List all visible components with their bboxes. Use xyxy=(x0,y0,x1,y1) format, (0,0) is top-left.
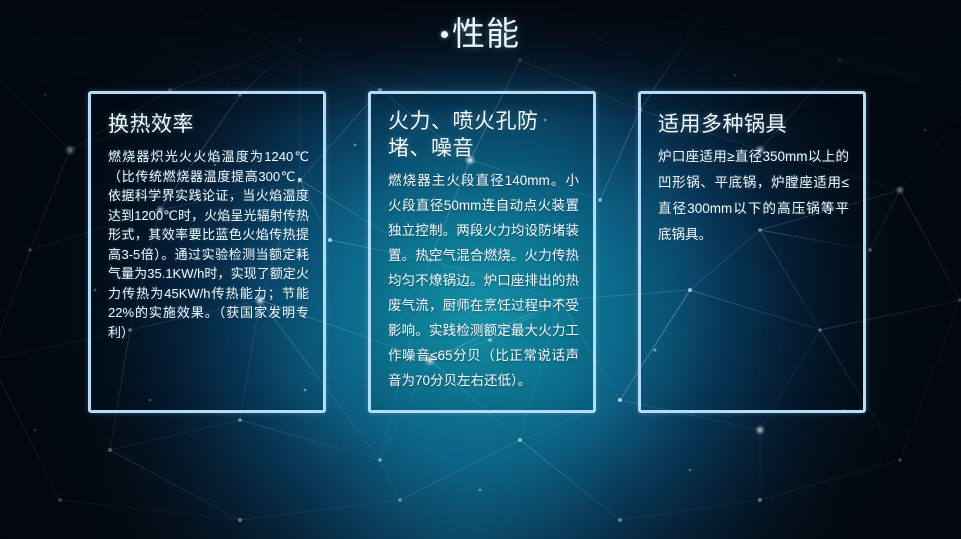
feature-card-cookware-compatibility: 适用多种锅具 炉口座适用≥直径350mm以上的凹形锅、平底锅，炉膛座适用≤直径3… xyxy=(638,91,866,413)
card-content: 换热效率 燃烧器炽光火火焰温度为1240℃（比传统燃烧器温度提高300℃，依据科… xyxy=(91,94,323,342)
feature-card-heat-exchange-efficiency: 换热效率 燃烧器炽光火火焰温度为1240℃（比传统燃烧器温度提高300℃，依据科… xyxy=(88,91,326,413)
card-body-text: 燃烧器炽光火火焰温度为1240℃（比传统燃烧器温度提高300℃，依据科学界实践论… xyxy=(108,147,309,342)
feature-card-firepower-nozzle-noise: 火力、喷火孔防堵、噪音 燃烧器主火段直径140mm。小火段直径50mm连自动点火… xyxy=(368,91,596,413)
card-title: 换热效率 xyxy=(108,111,309,138)
card-body-text: 炉口座适用≥直径350mm以上的凹形锅、平底锅，炉膛座适用≤直径300mm以下的… xyxy=(658,144,849,248)
card-title: 火力、喷火孔防堵、噪音 xyxy=(388,108,579,162)
page-title: 性能 xyxy=(0,14,961,54)
bullet-dot-icon xyxy=(441,31,448,38)
page-title-text: 性能 xyxy=(452,15,520,52)
card-title: 适用多种锅具 xyxy=(658,111,849,138)
card-content: 适用多种锅具 炉口座适用≥直径350mm以上的凹形锅、平底锅，炉膛座适用≤直径3… xyxy=(641,94,863,248)
slide-canvas: 性能 换热效率 燃烧器炽光火火焰温度为1240℃（比传统燃烧器温度提高300℃，… xyxy=(0,0,961,539)
card-content: 火力、喷火孔防堵、噪音 燃烧器主火段直径140mm。小火段直径50mm连自动点火… xyxy=(371,94,593,393)
card-body-text: 燃烧器主火段直径140mm。小火段直径50mm连自动点火装置独立控制。两段火力均… xyxy=(388,168,579,393)
